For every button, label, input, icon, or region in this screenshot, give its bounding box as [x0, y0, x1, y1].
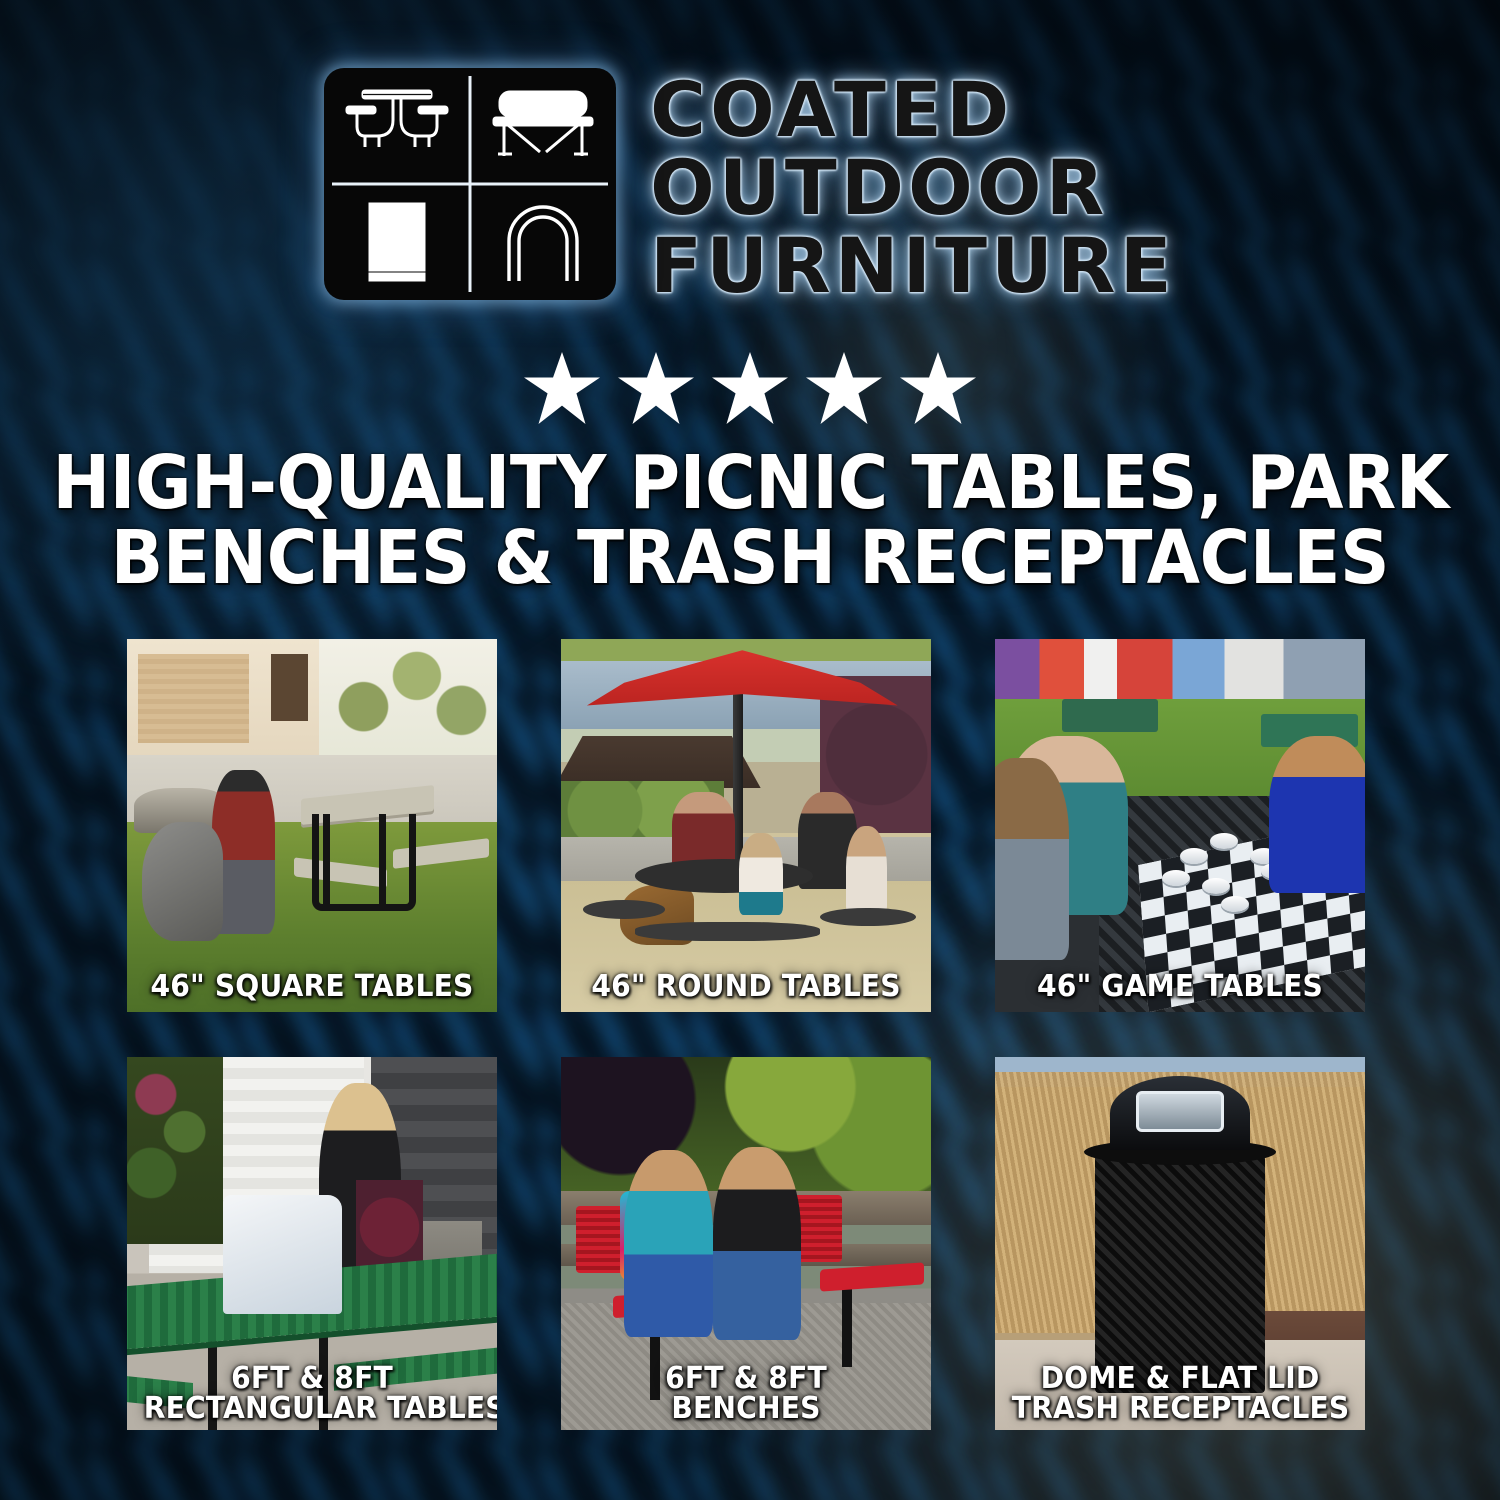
product-tile-round-tables[interactable]: 46" ROUND TABLES — [561, 639, 931, 1012]
caption-line: BENCHES — [578, 1394, 915, 1424]
product-caption-benches: 6FT & 8FT BENCHES — [572, 1364, 920, 1424]
product-caption-rectangular-tables: 6FT & 8FT RECTANGULAR TABLES — [138, 1364, 486, 1424]
star-icon — [618, 352, 694, 424]
caption-line: TRASH RECEPTACLES — [1012, 1394, 1349, 1424]
brand-logo: COATED OUTDOOR FURNITURE — [0, 68, 1500, 304]
brand-wordmark: COATED OUTDOOR FURNITURE — [650, 68, 1176, 304]
product-grid: 46" SQUARE TABLES 46" ROUND TABLES — [127, 639, 1372, 1430]
caption-line: 46" SQUARE TABLES — [144, 972, 481, 1002]
caption-line: DOME & FLAT LID — [1012, 1364, 1349, 1394]
product-tile-game-tables[interactable]: 46" GAME TABLES — [995, 639, 1365, 1012]
star-icon — [900, 352, 976, 424]
brand-word-1: COATED — [650, 72, 1176, 148]
picnic-table-icon — [324, 68, 470, 184]
star-icon — [712, 352, 788, 424]
product-photo-round-tables — [561, 639, 931, 1012]
park-bench-icon — [470, 68, 616, 184]
product-caption-round-tables: 46" ROUND TABLES — [572, 972, 920, 1002]
product-photo-game-tables — [995, 639, 1365, 1012]
product-tile-rectangular-tables[interactable]: 6FT & 8FT RECTANGULAR TABLES — [127, 1057, 497, 1430]
product-tile-square-tables[interactable]: 46" SQUARE TABLES — [127, 639, 497, 1012]
caption-line: RECTANGULAR TABLES — [144, 1394, 481, 1424]
logo-divider-horizontal — [332, 183, 608, 186]
logo-icon-grid — [324, 68, 616, 300]
caption-line: 6FT & 8FT — [144, 1364, 481, 1394]
brand-word-3: FURNITURE — [650, 228, 1176, 304]
star-icon — [524, 352, 600, 424]
product-caption-game-tables: 46" GAME TABLES — [1006, 972, 1354, 1002]
bike-rack-icon — [470, 184, 616, 300]
trash-receptacle-icon — [324, 184, 470, 300]
product-tile-trash-receptacles[interactable]: DOME & FLAT LID TRASH RECEPTACLES — [995, 1057, 1365, 1430]
star-rating — [0, 352, 1500, 424]
caption-line: 46" GAME TABLES — [1012, 972, 1349, 1002]
page-title: HIGH-QUALITY PICNIC TABLES, PARK BENCHES… — [53, 446, 1448, 597]
promo-banner: COATED OUTDOOR FURNITURE HIGH-QUALITY PI… — [0, 0, 1500, 1500]
product-caption-trash-receptacles: DOME & FLAT LID TRASH RECEPTACLES — [1006, 1364, 1354, 1424]
product-caption-square-tables: 46" SQUARE TABLES — [138, 972, 486, 1002]
product-photo-square-tables — [127, 639, 497, 1012]
caption-line: 46" ROUND TABLES — [578, 972, 915, 1002]
headline-line-1: HIGH-QUALITY PICNIC TABLES, PARK — [53, 446, 1448, 521]
brand-word-2: OUTDOOR — [650, 150, 1176, 226]
caption-line: 6FT & 8FT — [578, 1364, 915, 1394]
star-icon — [806, 352, 882, 424]
headline-line-2: BENCHES & TRASH RECEPTACLES — [53, 521, 1448, 596]
product-tile-benches[interactable]: 6FT & 8FT BENCHES — [561, 1057, 931, 1430]
